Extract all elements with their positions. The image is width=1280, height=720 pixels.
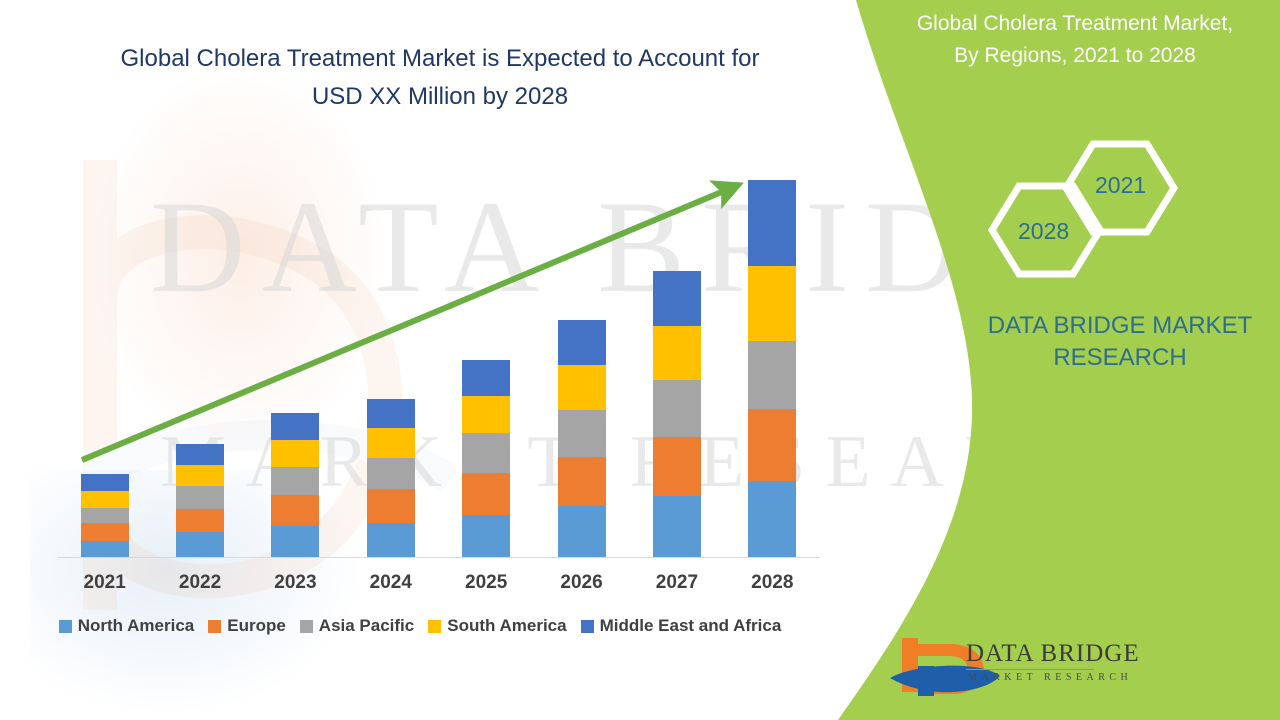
right-panel-title: Global Cholera Treatment Market, By Regi… <box>880 8 1270 72</box>
hexagon-label-2021: 2021 <box>1095 172 1146 199</box>
brand-name: DATA BRIDGE MARKET RESEARCH <box>960 310 1280 374</box>
brand-name-line1: DATA BRIDGE MARKET <box>988 312 1252 339</box>
right-panel-title-line2: By Regions, 2021 to 2028 <box>954 44 1196 67</box>
logo-subtext: MARKET RESEARCH <box>968 672 1132 683</box>
hexagon-badges <box>975 138 1195 288</box>
logo-wordmark: DATA BRIDGE <box>966 640 1140 668</box>
brand-name-line2: RESEARCH <box>1053 344 1186 371</box>
logo-divider-rule <box>966 669 1094 670</box>
slide-canvas: DATA BRIDGE MARKET RESEARCH Global Chole… <box>0 0 1280 720</box>
right-panel-title-line1: Global Cholera Treatment Market, <box>917 12 1233 35</box>
hexagon-label-2028: 2028 <box>1018 218 1069 245</box>
